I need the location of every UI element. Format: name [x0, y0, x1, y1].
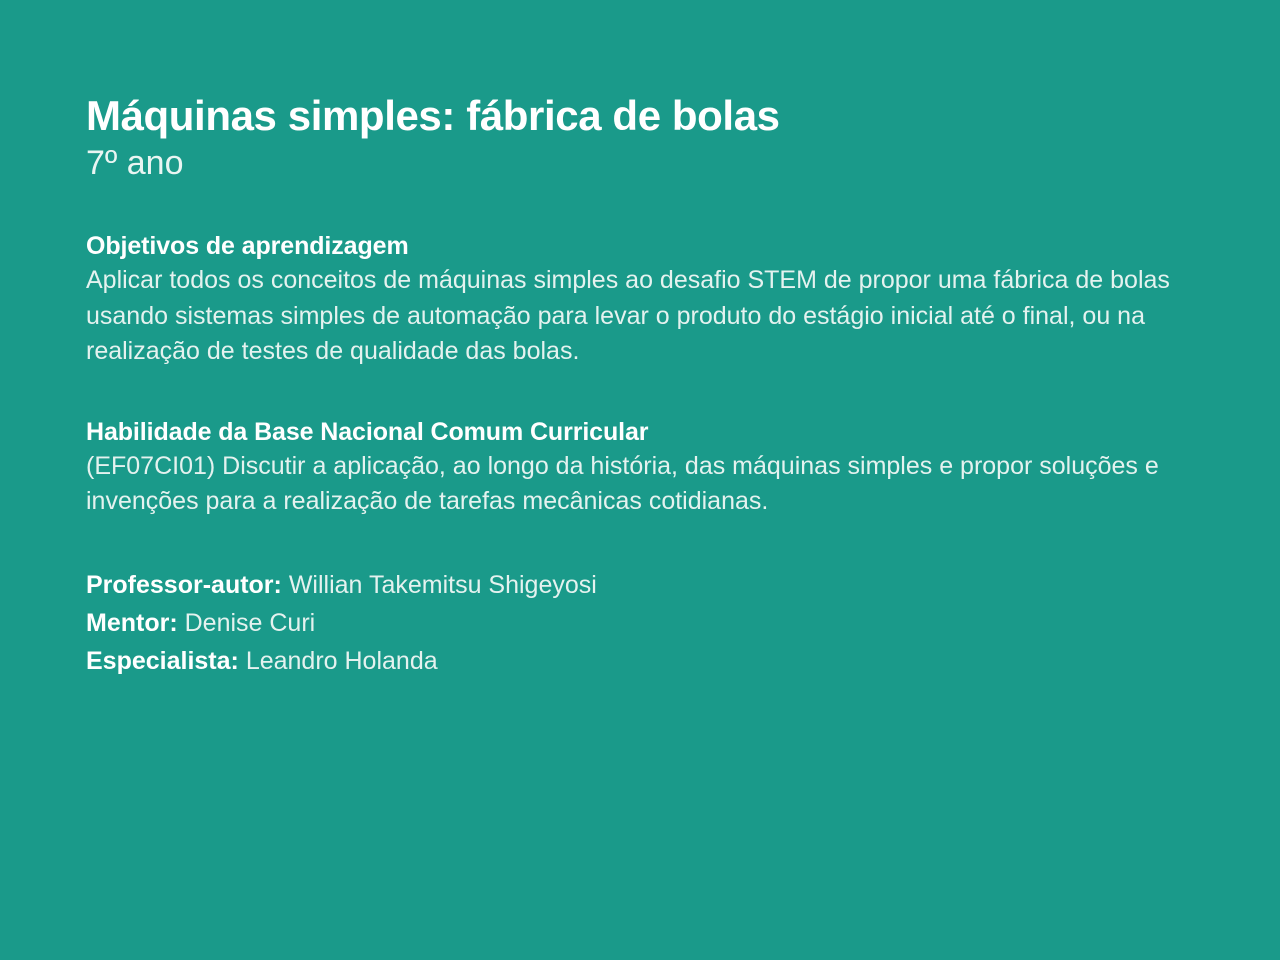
section-body-bncc-skill: (EF07CI01) Discutir a aplicação, ao long… [86, 449, 1191, 520]
page-subtitle: 7º ano [86, 142, 1198, 184]
section-learning-objectives: Objetivos de aprendizagem Aplicar todos … [86, 230, 1198, 370]
section-bncc-skill: Habilidade da Base Nacional Comum Curric… [86, 416, 1198, 520]
credit-value-specialist: Leandro Holanda [246, 647, 438, 675]
slide-canvas: Máquinas simples: fábrica de bolas 7º an… [0, 0, 1280, 960]
credit-label-mentor: Mentor: [86, 609, 178, 637]
section-heading-bncc-skill: Habilidade da Base Nacional Comum Curric… [86, 416, 1198, 449]
credit-line-specialist: Especialista: Leandro Holanda [86, 642, 1198, 680]
slide-content: Máquinas simples: fábrica de bolas 7º an… [86, 92, 1198, 680]
section-body-learning-objectives: Aplicar todos os conceitos de máquinas s… [86, 263, 1191, 370]
page-title: Máquinas simples: fábrica de bolas [86, 92, 1198, 140]
credit-value-author: Willian Takemitsu Shigeyosi [289, 571, 597, 599]
section-heading-learning-objectives: Objetivos de aprendizagem [86, 230, 1198, 263]
credit-line-author: Professor-autor: Willian Takemitsu Shige… [86, 566, 1198, 604]
credit-value-mentor: Denise Curi [185, 609, 316, 637]
credit-label-author: Professor-autor: [86, 571, 282, 599]
section-credits: Professor-autor: Willian Takemitsu Shige… [86, 566, 1198, 680]
credit-line-mentor: Mentor: Denise Curi [86, 604, 1198, 642]
credit-label-specialist: Especialista: [86, 647, 239, 675]
